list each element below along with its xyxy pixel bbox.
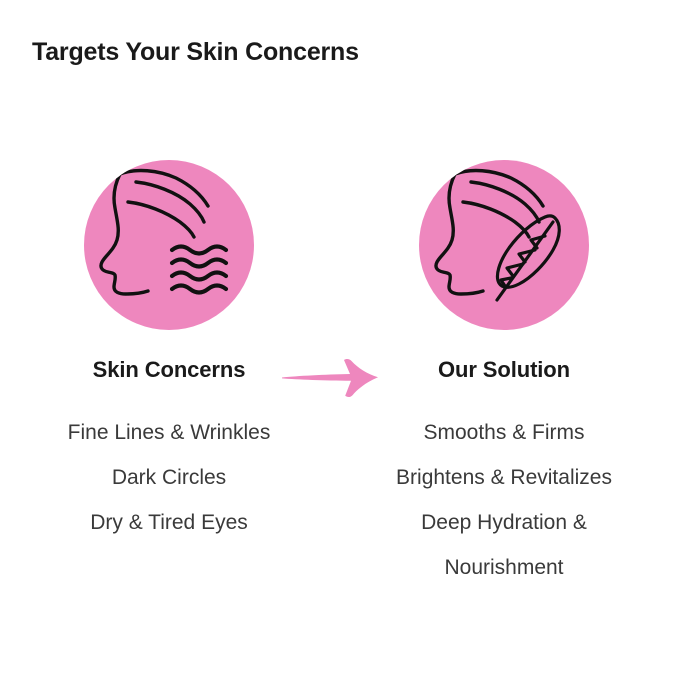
infographic-root: Targets Your Skin Concerns xyxy=(0,0,679,679)
face-profile-feather-icon xyxy=(419,160,589,330)
our-solution-heading: Our Solution xyxy=(354,359,654,381)
our-solution-list: Smooths & Firms Brightens & Revitalizes … xyxy=(354,410,654,590)
list-item: Smooths & Firms xyxy=(354,410,654,455)
list-item: Fine Lines & Wrinkles xyxy=(19,410,319,455)
feather-glyph xyxy=(497,216,559,300)
list-item: Brightens & Revitalizes xyxy=(354,455,654,500)
skin-concerns-column: Skin Concerns Fine Lines & Wrinkles Dark… xyxy=(19,160,319,545)
face-profile-feather-glyph xyxy=(419,160,589,330)
list-item: Dark Circles xyxy=(19,455,319,500)
list-item: Deep Hydration & Nourishment xyxy=(397,500,612,590)
page-title: Targets Your Skin Concerns xyxy=(32,38,359,67)
list-item: Dry & Tired Eyes xyxy=(19,500,319,545)
our-solution-column: Our Solution Smooths & Firms Brightens &… xyxy=(354,160,654,590)
skin-concerns-heading: Skin Concerns xyxy=(19,359,319,381)
skin-concerns-list: Fine Lines & Wrinkles Dark Circles Dry &… xyxy=(19,410,319,545)
face-profile-wrinkles-glyph xyxy=(84,160,254,330)
face-profile-wrinkles-icon xyxy=(84,160,254,330)
wrinkle-lines xyxy=(172,247,226,293)
